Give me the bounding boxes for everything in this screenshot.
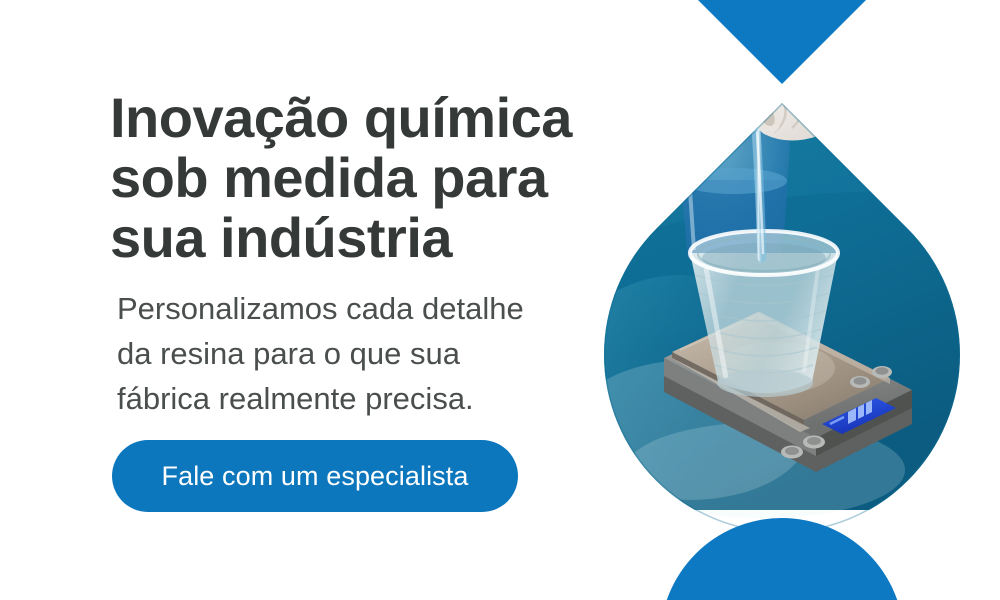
top-diamond-decoration (698, 0, 866, 84)
bottom-circle-decoration (660, 518, 904, 600)
page-title: Inovação química sob medida para sua ind… (110, 88, 590, 268)
graphic-column (560, 0, 1000, 600)
subheadline: Personalizamos cada detalhe da resina pa… (117, 286, 597, 421)
promo-banner: Inovação química sob medida para sua ind… (0, 0, 1000, 600)
text-column: Inovação química sob medida para sua ind… (110, 88, 590, 268)
product-photo (570, 0, 960, 533)
decorative-graphic-group (560, 0, 1000, 600)
cta-fale-com-especialista-button[interactable]: Fale com um especialista (112, 440, 518, 512)
